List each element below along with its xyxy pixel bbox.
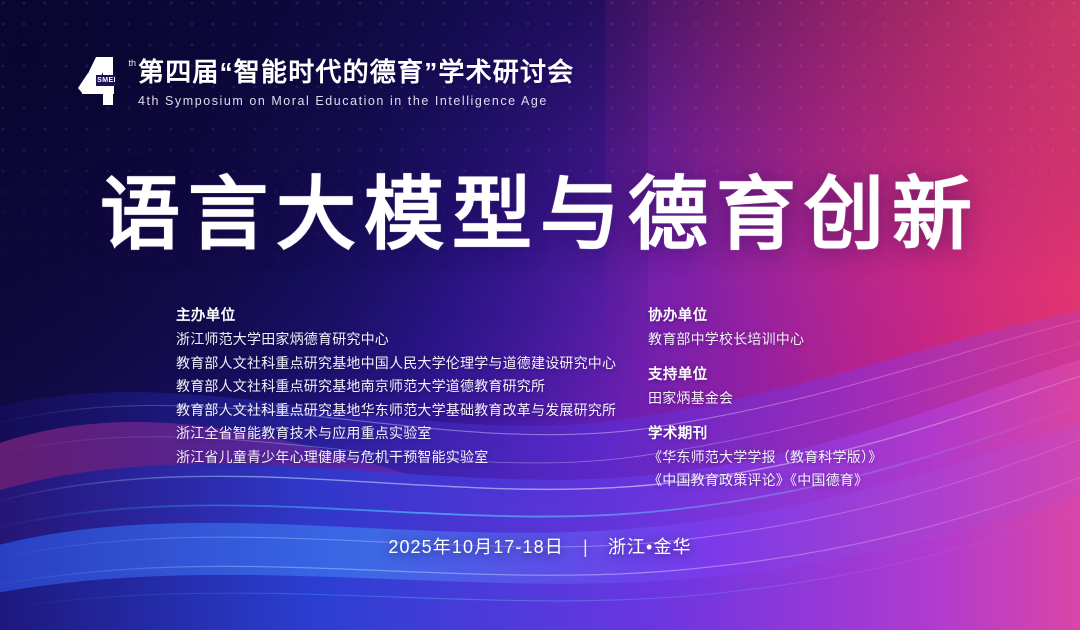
organisation-info: 主办单位 浙江师范大学田家炳德育研究中心 教育部人文社科重点研究基地中国人民大学… (0, 305, 1080, 485)
organisers-column-right: 协办单位 教育部中学校长培训中心 支持单位 田家炳基金会 学术期刊 《华东师范大… (648, 305, 882, 492)
smei-logo-icon: SMEI th (74, 55, 128, 107)
header-text-block: 第四届“智能时代的德育”学术研讨会 4th Symposium on Moral… (138, 55, 574, 108)
organiser-line: 教育部中学校长培训中心 (648, 328, 882, 351)
logo-wordmark: SMEI (97, 76, 116, 86)
organiser-line: 教育部人文社科重点研究基地中国人民大学伦理学与道德建设研究中心 (176, 352, 616, 376)
organiser-group-journals: 学术期刊 《华东师范大学学报（教育科学版）》 《中国教育政策评论》《中国德育》 (648, 423, 882, 492)
organiser-line: 浙江省儿童青少年心理健康与危机干预智能实验室 (176, 446, 616, 470)
event-date-location: 2025年10月17-18日 | 浙江•金华 (0, 533, 1080, 559)
organisers-column-left: 主办单位 浙江师范大学田家炳德育研究中心 教育部人文社科重点研究基地中国人民大学… (176, 305, 616, 469)
footer-separator: | (583, 537, 589, 558)
organiser-line: 浙江全省智能教育技术与应用重点实验室 (176, 422, 616, 446)
group-heading: 支持单位 (648, 364, 882, 387)
poster-header: SMEI th 第四届“智能时代的德育”学术研讨会 4th Symposium … (74, 55, 574, 108)
group-heading: 学术期刊 (648, 423, 882, 446)
conference-title-en: 4th Symposium on Moral Education in the … (138, 94, 574, 108)
organiser-line: 教育部人文社科重点研究基地南京师范大学道德教育研究所 (176, 375, 616, 399)
journal-line: 《华东师范大学学报（教育科学版）》 (648, 446, 882, 469)
organiser-group-host: 主办单位 浙江师范大学田家炳德育研究中心 教育部人文社科重点研究基地中国人民大学… (176, 305, 616, 469)
event-date: 2025年10月17-18日 (388, 537, 564, 557)
organiser-group-coorganiser: 协办单位 教育部中学校长培训中心 (648, 305, 882, 351)
organiser-line: 浙江师范大学田家炳德育研究中心 (176, 328, 616, 352)
group-heading: 主办单位 (176, 305, 616, 328)
conference-poster: SMEI th 第四届“智能时代的德育”学术研讨会 4th Symposium … (0, 0, 1080, 630)
journal-line: 《中国教育政策评论》《中国德育》 (648, 469, 882, 492)
logo-superscript: th (128, 58, 136, 68)
main-theme-title: 语言大模型与德育创新 (0, 169, 1080, 261)
organiser-group-supporter: 支持单位 田家炳基金会 (648, 364, 882, 410)
event-location: 浙江•金华 (608, 537, 692, 557)
conference-title-cn: 第四届“智能时代的德育”学术研讨会 (138, 56, 574, 88)
organiser-line: 田家炳基金会 (648, 387, 882, 410)
group-heading: 协办单位 (648, 305, 882, 328)
organiser-line: 教育部人文社科重点研究基地华东师范大学基础教育改革与发展研究所 (176, 399, 616, 423)
